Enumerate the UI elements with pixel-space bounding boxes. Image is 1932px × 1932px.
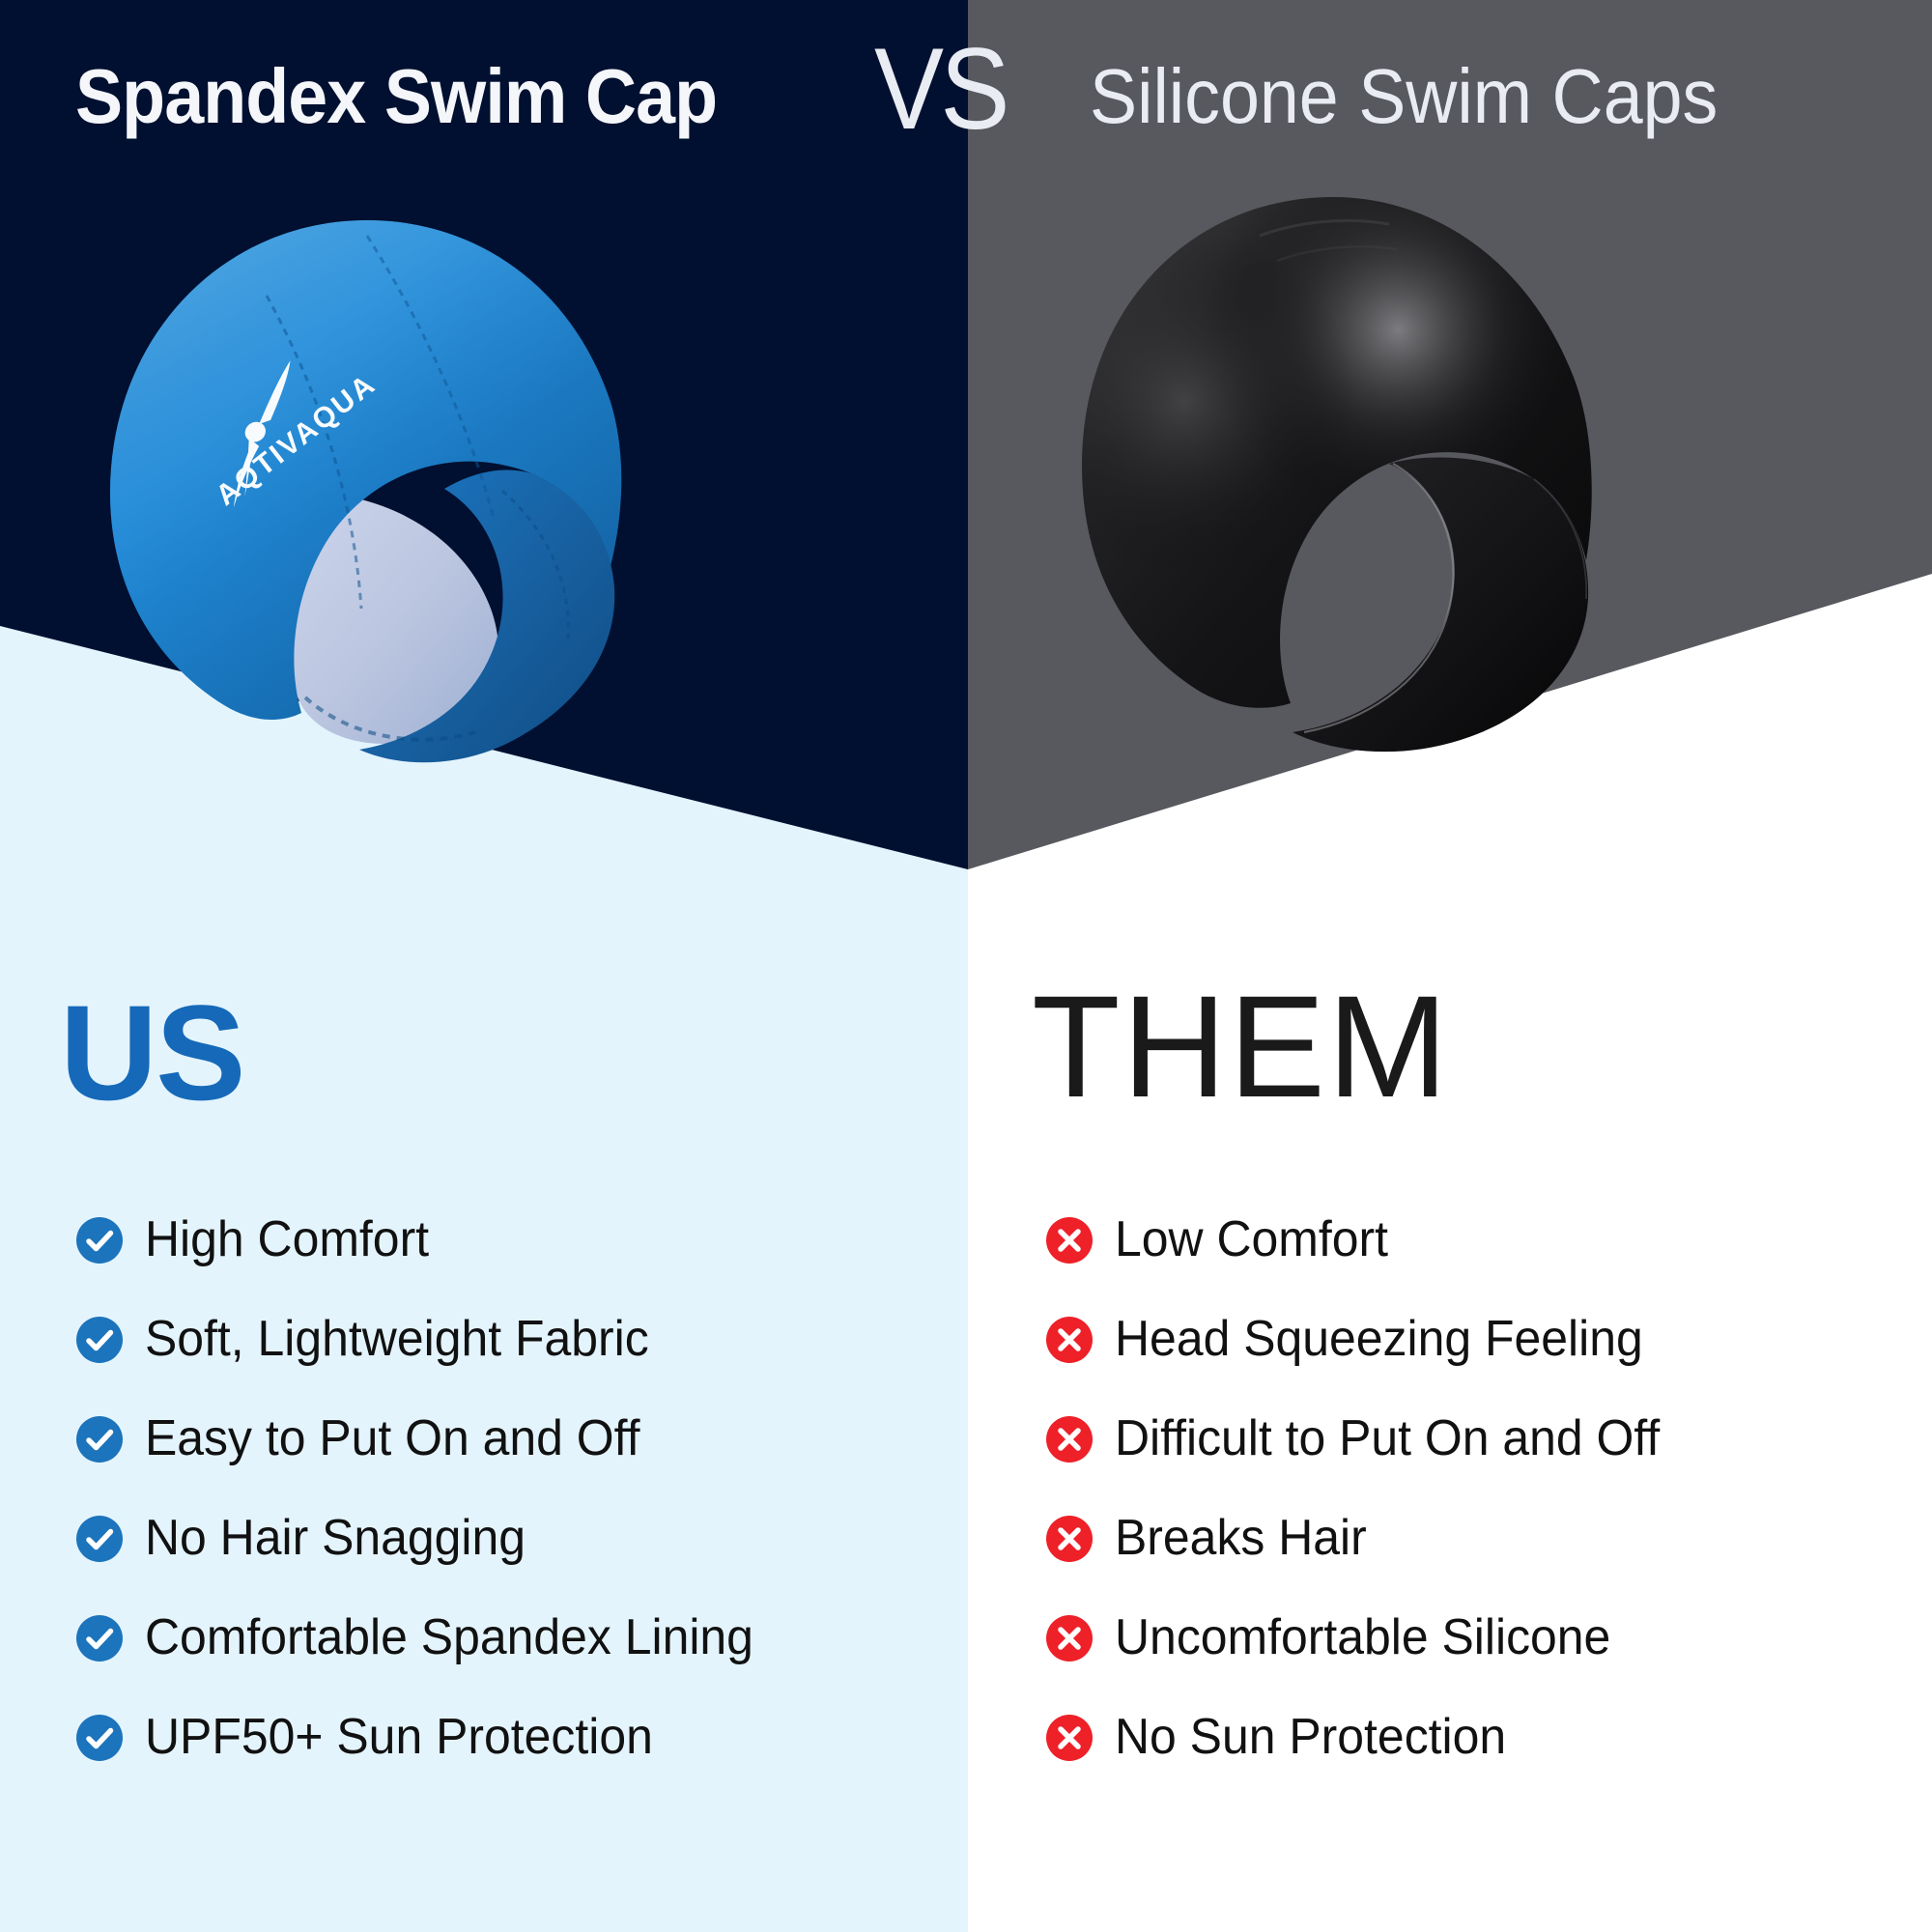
vs-label: VS bbox=[874, 31, 1007, 147]
cross-circle-icon bbox=[1045, 1415, 1094, 1463]
list-item: Difficult to Put On and Off bbox=[1045, 1389, 1915, 1489]
silicone-cap-brim bbox=[1293, 457, 1588, 752]
list-item: Breaks Hair bbox=[1045, 1489, 1915, 1588]
check-circle-icon bbox=[75, 1614, 124, 1662]
list-item: Low Comfort bbox=[1045, 1190, 1915, 1290]
header: Spandex Swim Cap VS Silicone Swim Caps bbox=[0, 0, 1932, 174]
cross-circle-icon bbox=[1045, 1614, 1094, 1662]
list-item-label: Easy to Put On and Off bbox=[145, 1412, 639, 1465]
check-circle-icon bbox=[75, 1415, 124, 1463]
us-feature-list: High Comfort Soft, Lightweight Fabric Ea… bbox=[75, 1190, 945, 1787]
check-circle-icon bbox=[75, 1515, 124, 1563]
list-item-label: Difficult to Put On and Off bbox=[1115, 1412, 1660, 1465]
check-circle-icon bbox=[75, 1714, 124, 1762]
list-item-label: Uncomfortable Silicone bbox=[1115, 1611, 1610, 1664]
list-item: No Hair Snagging bbox=[75, 1489, 945, 1588]
cross-circle-icon bbox=[1045, 1515, 1094, 1563]
list-item: Comfortable Spandex Lining bbox=[75, 1588, 945, 1688]
list-item: High Comfort bbox=[75, 1190, 945, 1290]
check-circle-icon bbox=[75, 1316, 124, 1364]
list-item-label: Breaks Hair bbox=[1115, 1512, 1367, 1565]
list-item-label: No Sun Protection bbox=[1115, 1711, 1506, 1764]
silicone-swim-cap-image bbox=[1024, 184, 1642, 753]
list-item-label: Low Comfort bbox=[1115, 1213, 1388, 1266]
list-item: No Sun Protection bbox=[1045, 1688, 1915, 1787]
comparison-infographic: Spandex Swim Cap VS Silicone Swim Caps bbox=[0, 0, 1932, 1932]
list-item: Uncomfortable Silicone bbox=[1045, 1588, 1915, 1688]
list-item-label: No Hair Snagging bbox=[145, 1512, 526, 1565]
list-item-label: Soft, Lightweight Fabric bbox=[145, 1313, 649, 1366]
list-item: Head Squeezing Feeling bbox=[1045, 1290, 1915, 1389]
list-item: UPF50+ Sun Protection bbox=[75, 1688, 945, 1787]
left-product-title: Spandex Swim Cap bbox=[75, 58, 717, 135]
them-heading: THEM bbox=[1032, 974, 1450, 1119]
list-item-label: Comfortable Spandex Lining bbox=[145, 1611, 753, 1664]
list-item: Soft, Lightweight Fabric bbox=[75, 1290, 945, 1389]
list-item-label: Head Squeezing Feeling bbox=[1115, 1313, 1643, 1366]
list-item-label: High Comfort bbox=[145, 1213, 429, 1266]
us-heading: US bbox=[60, 985, 243, 1121]
them-feature-list: Low Comfort Head Squeezing Feeling Diffi… bbox=[1045, 1190, 1915, 1787]
cross-circle-icon bbox=[1045, 1316, 1094, 1364]
cross-circle-icon bbox=[1045, 1216, 1094, 1264]
list-item: Easy to Put On and Off bbox=[75, 1389, 945, 1489]
check-circle-icon bbox=[75, 1216, 124, 1264]
right-product-title: Silicone Swim Caps bbox=[1090, 58, 1718, 135]
spandex-swim-cap-image: AQTIVAQUA bbox=[77, 203, 676, 773]
list-item-label: UPF50+ Sun Protection bbox=[145, 1711, 653, 1764]
cross-circle-icon bbox=[1045, 1714, 1094, 1762]
